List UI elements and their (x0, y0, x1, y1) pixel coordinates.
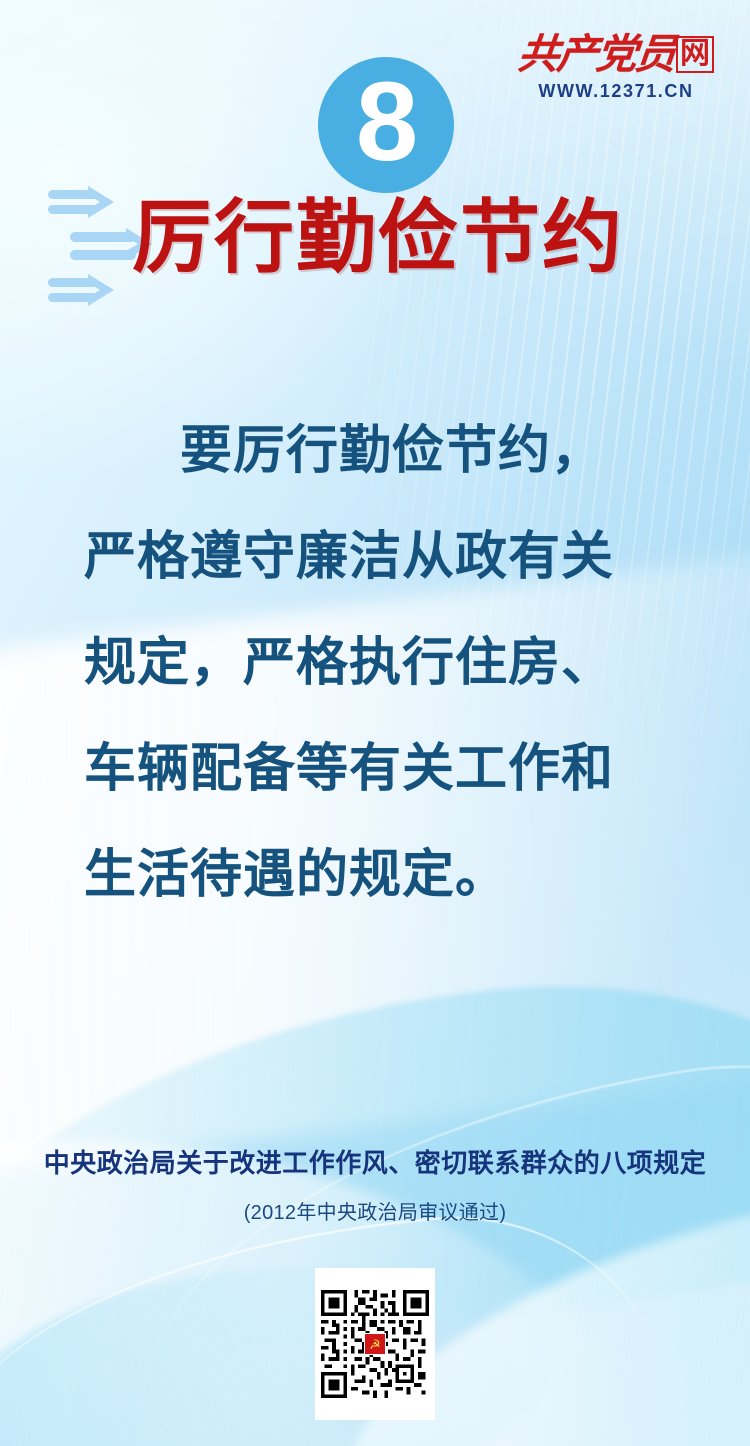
qr-code[interactable]: ☭ (315, 1268, 435, 1420)
number-badge-value: 8 (356, 66, 416, 178)
footer: 中央政治局关于改进工作作风、密切联系群众的八项规定 (2012年中央政治局审议通… (0, 1148, 750, 1225)
body-line-5: 生活待遇的规定。 (84, 822, 666, 928)
qr-code-matrix: ☭ (321, 1290, 429, 1398)
body-line-4: 车辆配备等有关工作和 (84, 716, 666, 822)
number-badge: 8 (318, 57, 454, 193)
footer-title: 中央政治局关于改进工作作风、密切联系群众的八项规定 (0, 1148, 750, 1179)
site-logo-wordmark: 共产党员 网 (500, 34, 732, 75)
page-title: 厉行勤俭节约 (132, 198, 624, 278)
footer-subtitle: (2012年中央政治局审议通过) (0, 1196, 750, 1225)
site-logo: 共产党员 网 WWW.12371.CN (500, 34, 732, 100)
site-logo-script-text: 共产党员 (516, 34, 676, 75)
body-line-3: 规定，严格执行住房、 (84, 610, 666, 716)
body-line-2: 严格遵守廉洁从政有关 (84, 504, 666, 610)
body-text: 要厉行勤俭节约， 严格遵守廉洁从政有关 规定，严格执行住房、 车辆配备等有关工作… (0, 398, 750, 928)
site-logo-url: WWW.12371.CN (500, 82, 732, 100)
party-emblem-glyph: ☭ (369, 1338, 381, 1351)
poster: 共产党员 网 WWW.12371.CN 8 (0, 0, 750, 1446)
party-emblem-icon: ☭ (364, 1333, 386, 1355)
site-logo-boxed-char: 网 (676, 36, 714, 73)
body-line-1: 要厉行勤俭节约， (84, 398, 666, 504)
